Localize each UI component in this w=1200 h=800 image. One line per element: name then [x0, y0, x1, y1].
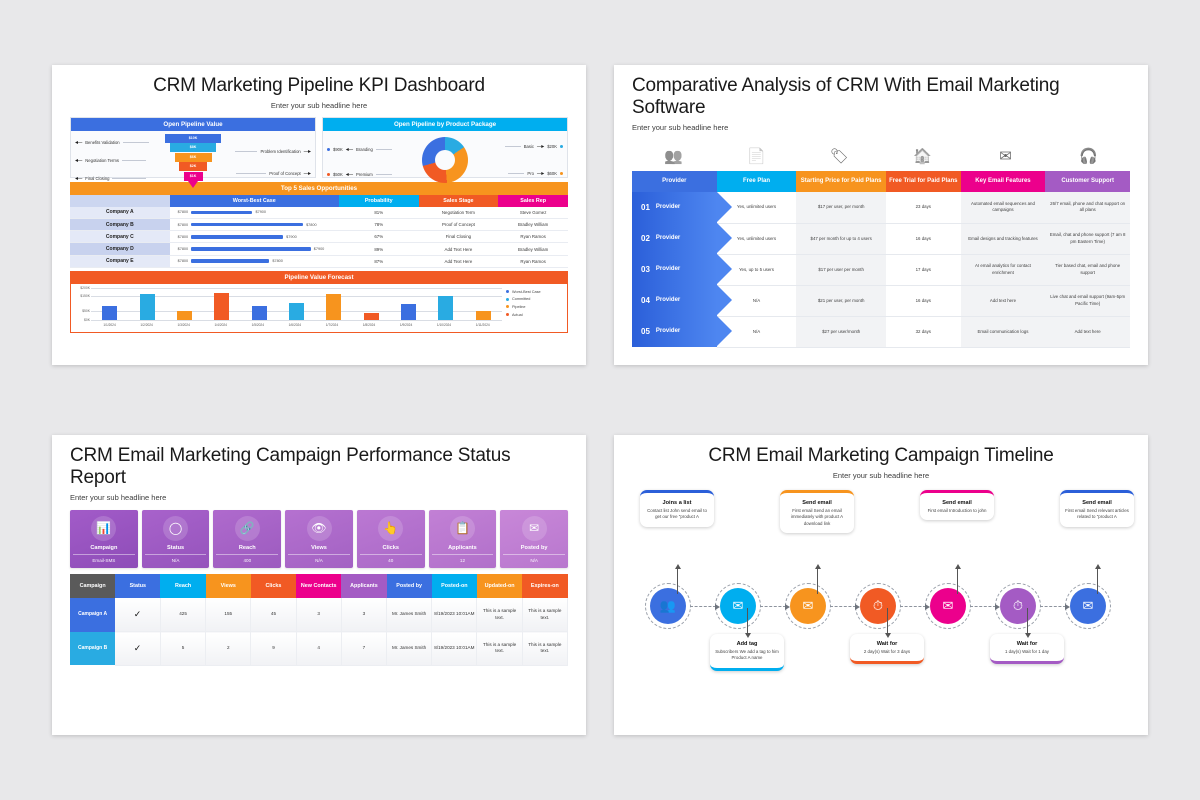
eye-views-icon: 👁	[307, 516, 332, 541]
kpi-value: N/A	[503, 555, 565, 563]
column-header: New Contacts	[296, 574, 341, 598]
slide-comparative-analysis[interactable]: Comparative Analysis of CRM With Email M…	[614, 65, 1148, 365]
worst-best-case-cell: $7800$7800	[170, 255, 339, 267]
funnel-stages: $10K$8K$6K$2K$1K	[165, 134, 221, 189]
price-cell: $27 per user/month	[796, 316, 886, 347]
legend-dot-icon	[327, 148, 330, 151]
donut-ring	[422, 137, 468, 183]
card-description: First email Send relevant articles relat…	[1065, 508, 1129, 521]
x-tick: 1/11/2024	[476, 323, 490, 327]
timeline-bottom-card[interactable]: Wait for2 day(s) Wait for 3 days	[850, 634, 924, 664]
legend-item: Pipeline	[506, 305, 564, 309]
connector-arrow-down	[747, 608, 748, 634]
node-connector	[1040, 606, 1066, 607]
card-description: Contact list John send email to get our …	[645, 508, 709, 521]
kpi-value: 12	[432, 555, 494, 563]
arrow-left-icon: ◂─	[75, 140, 82, 146]
funnel-left-label-0: ◂─ Benefits Validation	[75, 140, 149, 146]
arrow-left-icon: ◂─	[346, 147, 353, 153]
funnel-stage: $6K	[175, 153, 212, 162]
arrow-right-icon: ─▸	[304, 149, 311, 155]
expires-on-cell: This is a sample text.	[522, 598, 567, 631]
legend-label: Committed	[512, 297, 530, 301]
column-header: Starting Price for Paid Plans	[796, 171, 886, 193]
top5-sales-table: Worst-Best CaseProbabilitySales StageSal…	[70, 195, 568, 268]
low-value: $7800	[178, 247, 189, 251]
slide-campaign-timeline[interactable]: CRM Email Marketing Campaign Timeline En…	[614, 435, 1148, 735]
arrow-right-icon: ─▸	[537, 171, 544, 177]
legend-item: Actual	[506, 313, 564, 317]
kpi-card-posted-by[interactable]: ✉Posted byN/A	[500, 510, 568, 568]
y-tick: $150K	[80, 294, 90, 298]
campaign-name: Campaign B	[70, 632, 115, 666]
kpi-card-reach[interactable]: 🔗Reach400	[213, 510, 281, 568]
trial-cell: 16 days	[886, 285, 961, 316]
connector-arrow-down	[887, 608, 888, 634]
card-description: 1 day(s) Wait for 1 day	[995, 649, 1059, 655]
provider-number: 04	[641, 295, 650, 307]
features-cell: Email communication logs	[961, 316, 1046, 347]
kpi-value: Email-SMS	[73, 555, 135, 563]
column-header: Customer Support	[1045, 171, 1130, 193]
card-title: Joins a list	[645, 500, 709, 506]
bar	[289, 303, 304, 319]
kpi-card-views[interactable]: 👁ViewsN/A	[285, 510, 353, 568]
comparison-table: ProviderFree PlanStarting Price for Paid…	[632, 171, 1130, 348]
node-connector	[830, 606, 856, 607]
x-tick: 1/9/2024	[400, 323, 412, 327]
check-icon: ✓	[134, 643, 142, 653]
connector-arrow-up	[1097, 568, 1098, 594]
card-description: Subscribers We add a tag to him Product …	[715, 649, 779, 662]
page-subtitle: Enter your sub headline here	[632, 123, 1130, 132]
timeline-bottom-card[interactable]: Add tagSubscribers We add a tag to him P…	[710, 634, 784, 671]
company-name: Company E	[70, 255, 170, 267]
clicks-cell: 45	[251, 598, 296, 631]
updated-on-cell: This is a sample text.	[477, 632, 522, 666]
provider-cell: 03Provider	[632, 254, 717, 285]
support-cell: Add text here	[1045, 316, 1130, 347]
table-row[interactable]: Campaign B✓52947Mr. James Smith8/19/2023…	[70, 632, 568, 666]
posted-by-cell: Mr. James Smith	[387, 632, 432, 666]
bar	[438, 296, 453, 320]
table-header-row: CampaignStatusReachViewsClicksNew Contac…	[70, 574, 568, 598]
y-tick: $200K	[80, 286, 90, 290]
reach-cell: 425	[160, 598, 205, 631]
company-name: Company A	[70, 207, 170, 219]
page-title: CRM Email Marketing Campaign Timeline	[632, 445, 1130, 467]
provider-label: Provider	[656, 296, 680, 305]
open-pipeline-by-product-panel: Open Pipeline by Product Package $90K ◂─…	[322, 117, 568, 178]
x-tick: 1/10/2024	[437, 323, 451, 327]
legend-label: Pipeline	[512, 305, 526, 309]
provider-number: 05	[641, 326, 650, 338]
worst-best-case-cell: $7800$7900	[170, 231, 339, 243]
table-header-row: Worst-Best CaseProbabilitySales StageSal…	[70, 195, 568, 207]
probability-cell: 67%	[339, 231, 419, 243]
node-connector	[760, 606, 786, 607]
kpi-card-status[interactable]: ◯StatusN/A	[142, 510, 210, 568]
timeline-top-card[interactable]: Send emailFirst email Send relevant arti…	[1060, 490, 1134, 527]
sales-rep-cell: Bradley William	[498, 243, 568, 255]
y-tick: $50K	[82, 309, 90, 313]
document-applicant-icon: 📋	[450, 516, 475, 541]
kpi-value: N/A	[145, 555, 207, 563]
probability-cell: 87%	[339, 255, 419, 267]
provider-cell: 02Provider	[632, 223, 717, 254]
column-header: Key Email Features	[961, 171, 1046, 193]
views-cell: 155	[206, 598, 251, 631]
donut-chart: $90K ◂─ Branding $50K ◂─ Premium	[323, 131, 567, 190]
campaign-dashboard-icon: 📊	[91, 516, 116, 541]
trial-cell: 32 days	[886, 316, 961, 347]
funnel-left-label-2: ◂─ Final Closing	[75, 176, 146, 182]
trial-cell: 16 days	[886, 223, 961, 254]
price-cell: $17 per user per month	[796, 254, 886, 285]
table-row[interactable]: 04ProviderN/A$21 per user, per month16 d…	[632, 285, 1130, 316]
applicants-cell: 3	[341, 598, 386, 631]
column-header: Updated-on	[477, 574, 522, 598]
timeline-top-card[interactable]: Joins a listContact list John send email…	[640, 490, 714, 527]
timeline-bottom-card[interactable]: Wait for1 day(s) Wait for 1 day	[990, 634, 1064, 664]
x-tick: 1/6/2024	[289, 323, 301, 327]
card-title: Send email	[1065, 500, 1129, 506]
mail-send-pink-icon[interactable]: ✉	[930, 588, 966, 624]
kpi-value: 40	[360, 555, 422, 563]
connector-arrow-down	[1027, 608, 1028, 634]
posted-on-cell: 8/19/2023 10:01AM	[432, 632, 477, 666]
legend-label: Worst-Best Case	[512, 290, 541, 294]
high-value: $7900	[255, 210, 266, 214]
value-bar	[191, 211, 252, 214]
donut-right-item-0: Basic ─▸ $20K	[505, 144, 563, 150]
page-subtitle: Enter your sub headline here	[632, 471, 1130, 480]
legend-item: Committed	[506, 297, 564, 301]
sales-stage-cell: Proof of Concept	[419, 219, 499, 231]
email-features-icon: ✉	[964, 141, 1047, 171]
mail-arrow-icon[interactable]: ✉	[790, 588, 826, 624]
provider-number: 01	[641, 202, 650, 214]
connector-arrow-up	[957, 568, 958, 594]
table-body: Company A$7800$790081%Negotiation TermSt…	[70, 207, 568, 267]
card-title: Wait for	[855, 641, 919, 647]
x-tick: 1/5/2024	[252, 323, 264, 327]
card-title: Wait for	[995, 641, 1059, 647]
funnel-left-label-1: ◂─ Negotiation Terms	[75, 158, 146, 164]
card-title: Send email	[925, 500, 989, 506]
column-header: Status	[115, 574, 160, 598]
column-header: Expires-on	[522, 574, 567, 598]
campaign-name: Campaign A	[70, 598, 115, 631]
table-header-row: ProviderFree PlanStarting Price for Paid…	[632, 171, 1130, 193]
legend-dot-icon	[506, 305, 509, 308]
features-cell: Automated email sequences and campaigns	[961, 192, 1046, 223]
pricing-card-icon: 📄	[715, 141, 798, 171]
support-cell: Live chat and email support (9am-5pm Pac…	[1045, 285, 1130, 316]
kpi-title: Views	[288, 545, 350, 555]
mail-arrow-blue-icon[interactable]: ✉	[1070, 588, 1106, 624]
card-title: Add tag	[715, 641, 779, 647]
chart-legend: Worst-Best CaseCommittedPipelineActual	[506, 288, 564, 330]
arrow-right-icon: ─▸	[304, 171, 311, 177]
table-row[interactable]: Company E$7800$780087%Add Text HereRyan …	[70, 255, 568, 267]
expires-on-cell: This is a sample text.	[522, 632, 567, 666]
column-header: Applicants	[341, 574, 386, 598]
sales-rep-cell: Ryan Ramos	[498, 255, 568, 267]
provider-cell: 05Provider	[632, 316, 717, 347]
column-header: Clicks	[251, 574, 296, 598]
status-ring-icon: ◯	[163, 516, 188, 541]
reach-cell: 5	[160, 632, 205, 666]
kpi-card-applicants[interactable]: 📋Applicants12	[429, 510, 497, 568]
features-cell: Add text here	[961, 285, 1046, 316]
probability-cell: 78%	[339, 219, 419, 231]
table-row[interactable]: Company C$7800$790067%Final ClosingRyan …	[70, 231, 568, 243]
funnel-right-label-1: Proof of Concept ─▸	[236, 171, 311, 177]
worst-best-case-cell: $7800$7900	[170, 207, 339, 219]
timeline-diagram: Joins a listContact list John send email…	[632, 490, 1130, 720]
kpi-value: N/A	[288, 555, 350, 563]
arrow-left-icon: ◂─	[75, 176, 82, 182]
kpi-card-campaign[interactable]: 📊CampaignEmail-SMS	[70, 510, 138, 568]
support-cell: 26/7 email, phone and chat support on al…	[1045, 192, 1130, 223]
table-row[interactable]: Company D$7800$790089%Add Text HereBradl…	[70, 243, 568, 255]
low-value: $7800	[178, 223, 189, 227]
price-cell: $17 per user, per month	[796, 192, 886, 223]
send-mail-icon[interactable]: ✉	[720, 588, 756, 624]
bar	[102, 306, 117, 320]
clock-wait-icon[interactable]: ⏱	[860, 588, 896, 624]
provider-label: Provider	[656, 265, 680, 274]
column-header: Probability	[339, 195, 419, 207]
x-tick: 1/4/2024	[215, 323, 227, 327]
page-subtitle: Enter your sub headline here	[70, 101, 568, 110]
y-axis-ticks: $200K$150K$50K$0K	[74, 288, 91, 320]
campaign-table: CampaignStatusReachViewsClicksNew Contac…	[70, 574, 568, 666]
mail-posted-icon: ✉	[522, 516, 547, 541]
legend-dot-icon	[327, 173, 330, 176]
x-tick: 1/1/2024	[103, 323, 115, 327]
low-value: $7800	[178, 210, 189, 214]
legend-dot-icon	[560, 172, 563, 175]
kpi-title: Status	[145, 545, 207, 555]
check-icon: ✓	[134, 609, 142, 619]
column-header: Sales Stage	[419, 195, 499, 207]
provider-cell: 04Provider	[632, 285, 717, 316]
column-header: Free Plan	[717, 171, 797, 193]
new-contacts-cell: 4	[296, 632, 341, 666]
probability-cell: 81%	[339, 207, 419, 219]
kpi-value: 400	[216, 555, 278, 563]
forecast-plot: $200K$150K$50K$0K 1/1/20241/2/20241/3/20…	[74, 288, 502, 330]
low-value: $7800	[178, 259, 189, 263]
panel-header-left: Open Pipeline Value	[71, 118, 315, 131]
kpi-card-clicks[interactable]: 👆Clicks40	[357, 510, 425, 568]
sales-stage-cell: Negotiation Term	[419, 207, 499, 219]
timeline-top-card[interactable]: Send emailFirst email Introduction to jo…	[920, 490, 994, 520]
funnel-tip	[188, 181, 198, 188]
provider-cell: 01Provider	[632, 192, 717, 223]
trial-cell: 23 days	[886, 192, 961, 223]
donut-left-item-1: $50K ◂─ Premium	[327, 172, 392, 178]
bar	[252, 306, 267, 320]
status-cell: ✓	[115, 598, 160, 631]
worst-best-case-cell: $7800$7900	[170, 243, 339, 255]
status-cell: ✓	[115, 632, 160, 666]
column-header: Views	[206, 574, 251, 598]
clock-wait-purple-icon[interactable]: ⏱	[1000, 588, 1036, 624]
clicks-cell: 9	[251, 632, 296, 666]
node-connector	[900, 606, 926, 607]
posted-on-cell: 8/19/2023 10:01AM	[432, 598, 477, 631]
company-name: Company D	[70, 243, 170, 255]
funnel-right-label-0: Problem Identification ─▸	[235, 149, 311, 155]
bar	[140, 294, 155, 320]
legend-dot-icon	[506, 290, 509, 293]
company-name: Company C	[70, 231, 170, 243]
table-row[interactable]: 03ProviderYes, up to 5 users$17 per user…	[632, 254, 1130, 285]
page-subtitle: Enter your sub headline here	[70, 493, 568, 502]
column-header: Free Trial for Paid Plans	[886, 171, 961, 193]
money-house-icon: 🏠	[881, 141, 964, 171]
legend-dot-icon	[560, 145, 563, 148]
x-tick: 1/3/2024	[177, 323, 189, 327]
low-value: $7800	[178, 235, 189, 239]
page-title: CRM Email Marketing Campaign Performance…	[70, 445, 568, 489]
connector-arrow-up	[817, 568, 818, 594]
company-name: Company B	[70, 219, 170, 231]
high-value: $7900	[286, 235, 297, 239]
funnel-stage: $8K	[170, 143, 216, 152]
card-description: First email Introduction to john	[925, 508, 989, 514]
column-header: Worst-Best Case	[170, 195, 339, 207]
sales-rep-cell: Ryan Ramos	[498, 231, 568, 243]
price-cell: $21 per user, per month	[796, 285, 886, 316]
comparison-icon-row: 👥📄🏷🏠✉🎧	[632, 141, 1130, 171]
sales-rep-cell: Bradley William	[498, 219, 568, 231]
column-header: Campaign	[70, 574, 115, 598]
team-network-icon: 👥	[632, 141, 715, 171]
card-description: 2 day(s) Wait for 3 days	[855, 649, 919, 655]
value-bar	[191, 223, 303, 226]
timeline-top-card[interactable]: Send emailFirst email Send an email imme…	[780, 490, 854, 533]
bar	[177, 311, 192, 319]
views-cell: 2	[206, 632, 251, 666]
provider-number: 03	[641, 264, 650, 276]
y-tick: $0K	[84, 318, 90, 322]
column-header: Provider	[632, 171, 717, 193]
arrow-left-icon: ◂─	[346, 172, 353, 178]
table-row[interactable]: 01ProviderYes, unlimited users$17 per us…	[632, 192, 1130, 223]
card-title: Send email	[785, 500, 849, 506]
card-description: First email Send an email immediately wi…	[785, 508, 849, 527]
bar	[401, 304, 416, 320]
sales-stage-cell: Final Closing	[419, 231, 499, 243]
price-tag-icon: 🏷	[798, 141, 881, 171]
features-cell: Email designs and tracking features	[961, 223, 1046, 254]
funnel-stage: $10K	[165, 134, 221, 143]
provider-label: Provider	[656, 234, 680, 243]
kpi-title: Clicks	[360, 545, 422, 555]
kpi-title: Posted by	[503, 545, 565, 555]
kpi-panels: Open Pipeline Value $10K$8K$6K$2K$1K ◂─ …	[70, 117, 568, 178]
people-group-icon[interactable]: 👥	[650, 588, 686, 624]
high-value: $7900	[314, 247, 325, 251]
forecast-chart: $200K$150K$50K$0K 1/1/20241/2/20241/3/20…	[70, 284, 568, 333]
updated-on-cell: This is a sample text.	[477, 598, 522, 631]
column-header: Sales Rep	[498, 195, 568, 207]
price-cell: $47 per month for up to 4 users	[796, 223, 886, 254]
trial-cell: 17 days	[886, 254, 961, 285]
x-tick: 1/7/2024	[326, 323, 338, 327]
applicants-cell: 7	[341, 632, 386, 666]
funnel-chart: $10K$8K$6K$2K$1K ◂─ Benefits Validation …	[71, 131, 315, 190]
table-row[interactable]: 02ProviderYes, unlimited users$47 per mo…	[632, 223, 1130, 254]
high-value: $7800	[306, 223, 317, 227]
column-header: Reach	[160, 574, 205, 598]
donut-left-item-0: $90K ◂─ Branding	[327, 147, 392, 153]
bars	[91, 278, 502, 320]
column-header: Posted by	[387, 574, 432, 598]
column-header: Posted-on	[432, 574, 477, 598]
value-bar	[191, 235, 283, 238]
bar	[364, 313, 379, 320]
x-tick: 1/8/2024	[363, 323, 375, 327]
x-tick: 1/2/2024	[140, 323, 152, 327]
bar	[214, 293, 229, 320]
open-pipeline-value-panel: Open Pipeline Value $10K$8K$6K$2K$1K ◂─ …	[70, 117, 316, 178]
features-cell: AI email analytics for contact enrichmen…	[961, 254, 1046, 285]
kpi-title: Reach	[216, 545, 278, 555]
bar	[326, 294, 341, 320]
donut-right-item-1: Pro ─▸ $60K	[508, 171, 563, 177]
provider-label: Provider	[656, 203, 680, 212]
kpi-card-row: 📊CampaignEmail-SMS◯StatusN/A🔗Reach400👁Vi…	[70, 510, 568, 568]
support-cell: Email, chat and phone support (7 am 8 pm…	[1045, 223, 1130, 254]
arrow-right-icon: ─▸	[537, 144, 544, 150]
network-reach-icon: 🔗	[235, 516, 260, 541]
value-bar	[191, 259, 269, 262]
page-title: CRM Marketing Pipeline KPI Dashboard	[70, 75, 568, 97]
slide-campaign-performance[interactable]: CRM Email Marketing Campaign Performance…	[52, 435, 586, 735]
page-title: Comparative Analysis of CRM With Email M…	[632, 75, 1130, 119]
x-axis-ticks: 1/1/20241/2/20241/3/20241/4/20241/5/2024…	[91, 320, 502, 330]
sales-stage-cell: Add Text Here	[419, 255, 499, 267]
slide-deck: CRM Marketing Pipeline KPI Dashboard Ent…	[0, 0, 1200, 800]
table-body: Campaign A✓4251554533Mr. James Smith8/19…	[70, 598, 568, 665]
slide-crm-pipeline-kpi[interactable]: CRM Marketing Pipeline KPI Dashboard Ent…	[52, 65, 586, 365]
table-row[interactable]: 05ProviderN/A$27 per user/month32 daysEm…	[632, 316, 1130, 347]
legend-dot-icon	[506, 313, 509, 316]
sales-stage-cell: Add Text Here	[419, 243, 499, 255]
kpi-title: Applicants	[432, 545, 494, 555]
probability-cell: 89%	[339, 243, 419, 255]
table-body: 01ProviderYes, unlimited users$17 per us…	[632, 192, 1130, 347]
bar	[476, 311, 491, 320]
table-row[interactable]: Company B$7800$780078%Proof of ConceptBr…	[70, 219, 568, 231]
sales-rep-cell: Steve Gomez	[498, 207, 568, 219]
kpi-title: Campaign	[73, 545, 135, 555]
support-headset-icon: 🎧	[1047, 141, 1130, 171]
funnel-stage: $1K	[184, 172, 203, 181]
panel-header-right: Open Pipeline by Product Package	[323, 118, 567, 131]
arrow-left-icon: ◂─	[75, 158, 82, 164]
table-row[interactable]: Company A$7800$790081%Negotiation TermSt…	[70, 207, 568, 219]
provider-number: 02	[641, 233, 650, 245]
table-row[interactable]: Campaign A✓4251554533Mr. James Smith8/19…	[70, 598, 568, 631]
worst-best-case-cell: $7800$7800	[170, 219, 339, 231]
support-cell: Tier based chat, email and phone support	[1045, 254, 1130, 285]
